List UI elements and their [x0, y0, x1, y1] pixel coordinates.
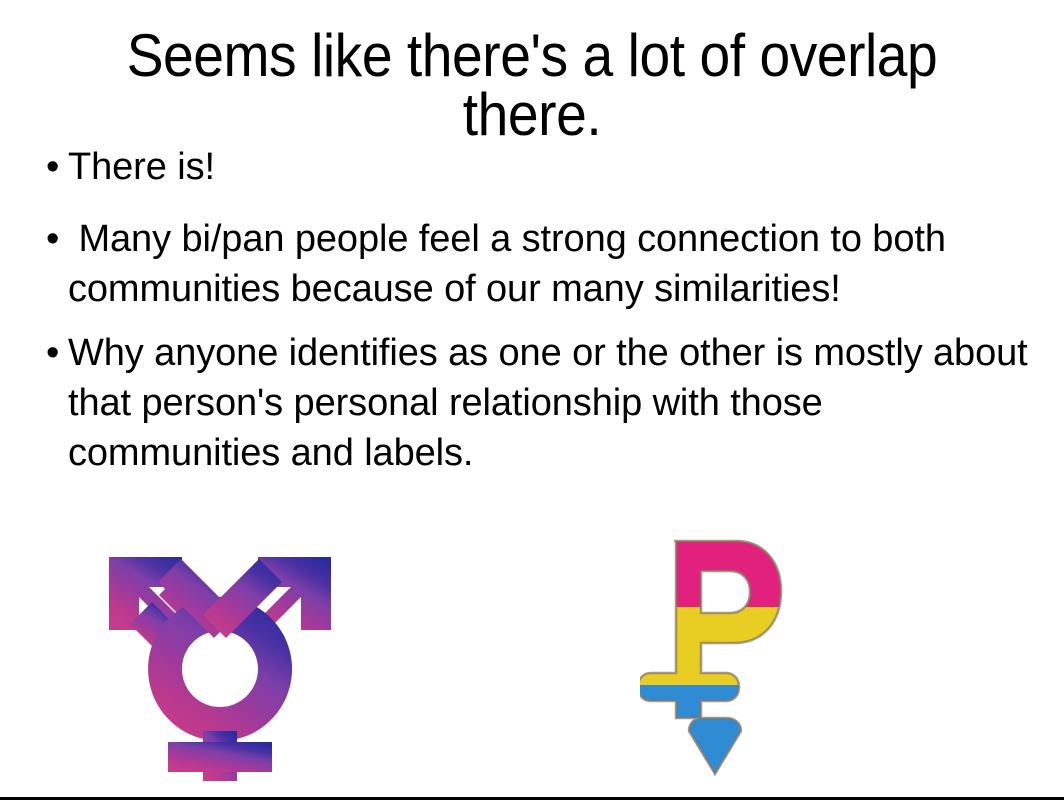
pansexual-symbol-icon	[640, 535, 790, 780]
list-item: • Why anyone identifies as one or the ot…	[34, 328, 1034, 478]
bullet-list: • There is! • Many bi/pan people feel a …	[34, 142, 1034, 486]
list-item-text: Why anyone identifies as one or the othe…	[68, 328, 1034, 478]
page-title: Seems like there's a lot of overlap ther…	[79, 26, 984, 145]
list-item-text: There is!	[68, 142, 1034, 192]
list-item: • Many bi/pan people feel a strong conne…	[34, 214, 1034, 314]
list-item: • There is!	[34, 142, 1034, 192]
slide-canvas: Seems like there's a lot of overlap ther…	[0, 0, 1064, 800]
list-item-text: Many bi/pan people feel a strong connect…	[68, 214, 1034, 314]
slide-title-block: Seems like there's a lot of overlap ther…	[40, 26, 1024, 145]
bullet-dot-icon: •	[34, 328, 68, 378]
symbol-images-row	[0, 525, 1064, 787]
bullet-dot-icon: •	[34, 142, 68, 192]
transgender-symbol-icon	[95, 535, 345, 783]
bullet-dot-icon: •	[34, 214, 68, 264]
